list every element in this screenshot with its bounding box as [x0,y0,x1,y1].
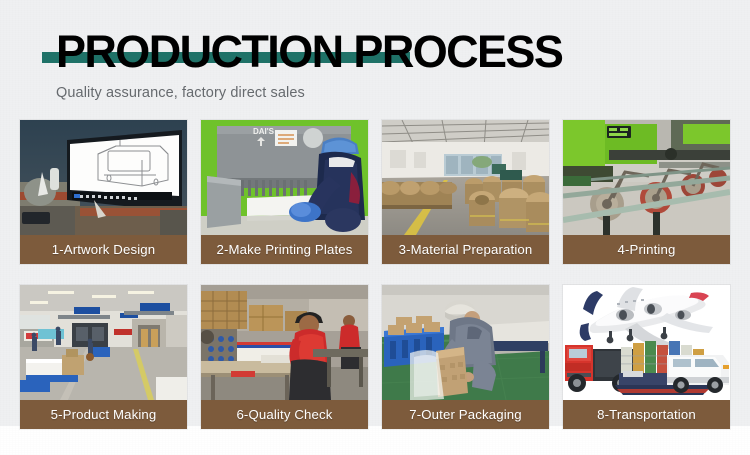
process-step-caption: 8-Transportation [563,400,730,429]
printing-photo [563,120,730,235]
process-step-caption: 6-Quality Check [201,400,368,429]
process-step-card[interactable]: 8-Transportation [563,285,730,429]
process-step-card[interactable]: 7-Outer Packaging [382,285,549,429]
process-step-label: 1-Artwork Design [52,242,156,257]
product-making-photo [20,285,187,400]
svg-text:DAI'S: DAI'S [253,127,275,136]
quality-check-photo [201,285,368,400]
process-step-label: 4-Printing [618,242,676,257]
process-step-card[interactable]: DAI'S [201,120,368,264]
process-step-label: 6-Quality Check [236,407,332,422]
process-step-card[interactable]: 1-Artwork Design [20,120,187,264]
process-step-caption: 2-Make Printing Plates [201,235,368,264]
process-step-row: 1-Artwork Design [20,120,730,264]
process-step-label: 3-Material Preparation [399,242,533,257]
page-title: PRODUCTION PROCESS [42,26,562,78]
process-step-caption: 3-Material Preparation [382,235,549,264]
process-step-card[interactable]: 6-Quality Check [201,285,368,429]
process-step-row: 5-Product Making [20,285,730,429]
process-step-label: 2-Make Printing Plates [217,242,353,257]
process-step-card[interactable]: 4-Printing [563,120,730,264]
material-preparation-photo [382,120,549,235]
production-process-banner: PRODUCTION PROCESS Quality assurance, fa… [0,0,750,455]
process-step-grid: 1-Artwork Design [20,120,730,450]
process-step-caption: 4-Printing [563,235,730,264]
make-printing-plates-photo: DAI'S [201,120,368,235]
process-step-caption: 1-Artwork Design [20,235,187,264]
page-subtitle: Quality assurance, factory direct sales [56,84,305,102]
process-step-caption: 5-Product Making [20,400,187,429]
process-step-caption: 7-Outer Packaging [382,400,549,429]
artwork-design-photo [20,120,187,235]
banner-header: PRODUCTION PROCESS Quality assurance, fa… [0,0,750,118]
process-step-label: 5-Product Making [51,407,157,422]
process-step-label: 7-Outer Packaging [409,407,522,422]
transportation-photo [563,285,730,400]
page-title-text: PRODUCTION PROCESS [42,26,562,78]
outer-packaging-photo [382,285,549,400]
process-step-card[interactable]: 3-Material Preparation [382,120,549,264]
process-step-card[interactable]: 5-Product Making [20,285,187,429]
process-step-label: 8-Transportation [597,407,696,422]
